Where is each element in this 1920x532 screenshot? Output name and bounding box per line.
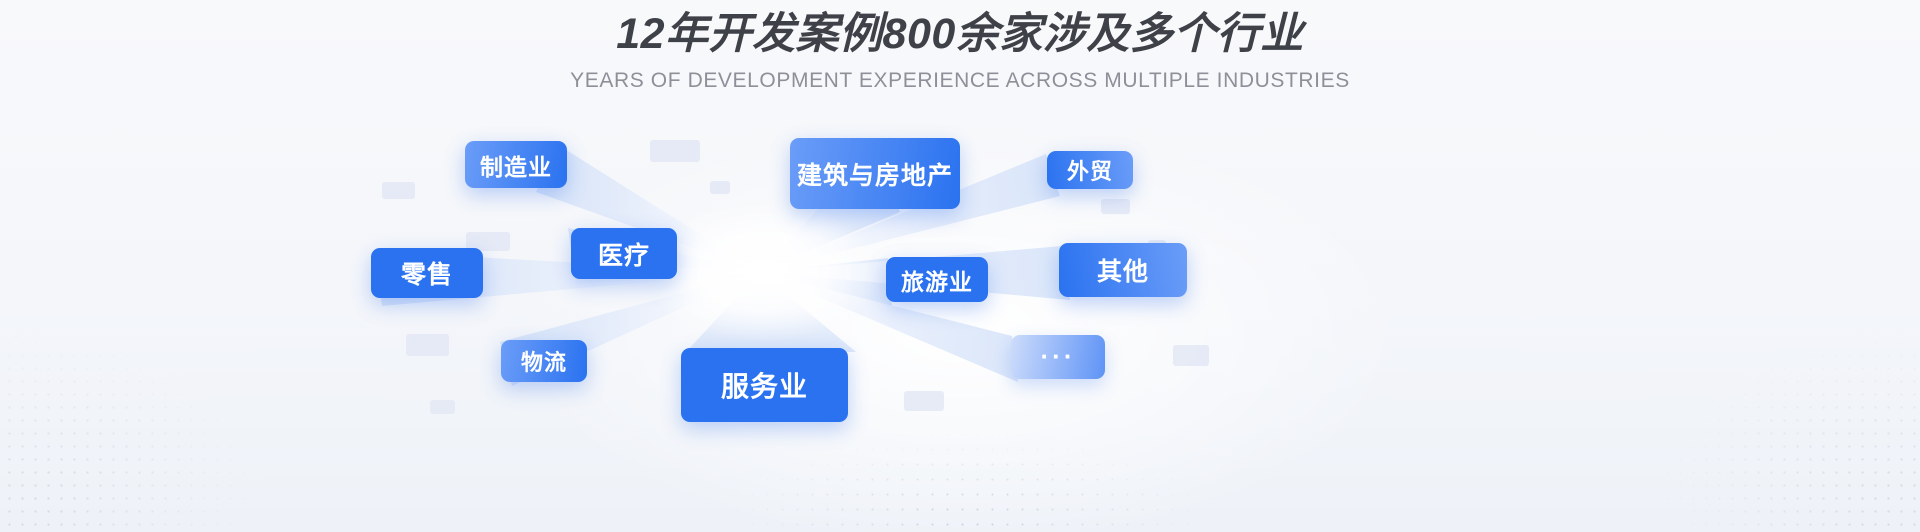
industry-tag-label: 建筑与房地产 bbox=[797, 156, 953, 192]
industry-tag-other[interactable]: 其他 bbox=[1059, 243, 1187, 297]
industry-tag-label: 其他 bbox=[1097, 252, 1149, 288]
industry-tag-label: 旅游业 bbox=[901, 263, 973, 297]
industry-tag-label: 服务业 bbox=[721, 365, 808, 405]
banner-stage: 12年开发案例800余家涉及多个行业 YEARS OF DEVELOPMENT … bbox=[0, 0, 1920, 532]
industry-tag-label: 医疗 bbox=[598, 236, 650, 272]
industry-tag-healthcare[interactable]: 医疗 bbox=[571, 228, 677, 279]
background-chip bbox=[1173, 345, 1209, 366]
industry-tag-tourism[interactable]: 旅游业 bbox=[886, 257, 988, 302]
industry-tag-more[interactable]: ··· bbox=[1011, 335, 1105, 379]
industry-tag-foreign-trade[interactable]: 外贸 bbox=[1047, 151, 1133, 189]
header-block: 12年开发案例800余家涉及多个行业 YEARS OF DEVELOPMENT … bbox=[0, 8, 1920, 93]
background-chip bbox=[904, 391, 944, 411]
industry-tag-label: 零售 bbox=[401, 255, 453, 291]
industry-tag-retail[interactable]: 零售 bbox=[371, 248, 483, 298]
industry-tag-construction[interactable]: 建筑与房地产 bbox=[790, 138, 960, 209]
industry-tag-services[interactable]: 服务业 bbox=[681, 348, 848, 422]
industry-tag-logistics[interactable]: 物流 bbox=[501, 340, 587, 382]
dot-pattern-left bbox=[0, 232, 350, 532]
background-chip bbox=[710, 181, 730, 194]
industry-tag-manufacturing[interactable]: 制造业 bbox=[465, 141, 567, 188]
background-chip bbox=[430, 400, 455, 414]
industry-tag-label: 物流 bbox=[521, 345, 567, 377]
dot-pattern-right bbox=[1570, 232, 1920, 532]
background-chip bbox=[1101, 199, 1130, 214]
background-chip bbox=[382, 182, 415, 199]
industry-tag-label: ··· bbox=[1041, 349, 1076, 365]
industry-tag-label: 制造业 bbox=[480, 148, 552, 182]
background-chip bbox=[406, 334, 449, 356]
background-chip bbox=[650, 140, 700, 162]
industry-tag-label: 外贸 bbox=[1067, 154, 1113, 186]
page-title: 12年开发案例800余家涉及多个行业 bbox=[0, 8, 1920, 62]
page-subtitle: YEARS OF DEVELOPMENT EXPERIENCE ACROSS M… bbox=[0, 69, 1920, 93]
